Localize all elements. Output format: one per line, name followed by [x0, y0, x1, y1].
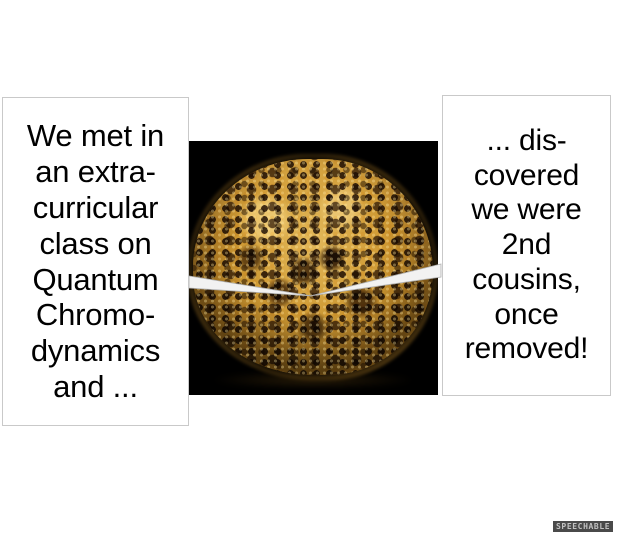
- speech-bubble-right[interactable]: ... dis- covered we were 2nd cousins, on…: [442, 95, 611, 396]
- sponge-shadow: [213, 371, 413, 389]
- sponge-body: [193, 159, 433, 375]
- speech-bubble-left-text: We met in an extra- curricular class on …: [3, 118, 188, 406]
- sponge-pore-highlights: [193, 159, 433, 375]
- speechable-watermark: SPEECHABLE: [553, 521, 613, 532]
- speech-bubble-left[interactable]: We met in an extra- curricular class on …: [2, 97, 189, 426]
- natural-sea-sponge-photo: [189, 141, 438, 395]
- speech-bubble-right-text: ... dis- covered we were 2nd cousins, on…: [443, 124, 610, 368]
- meme-canvas: We met in an extra- curricular class on …: [0, 0, 620, 536]
